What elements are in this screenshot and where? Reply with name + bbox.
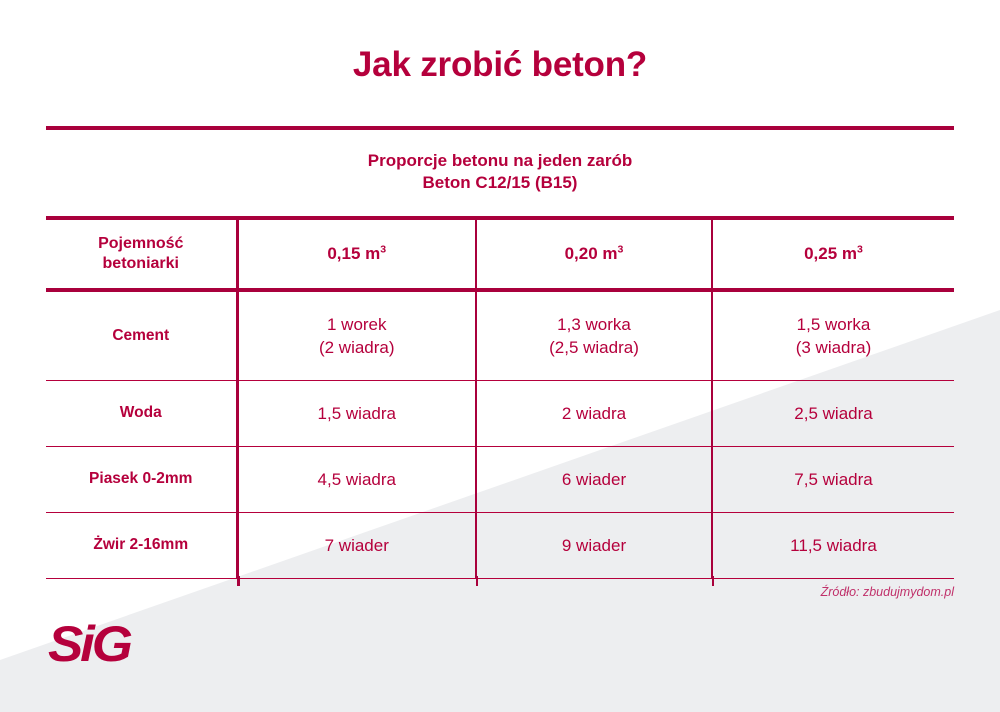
infographic-page: Jak zrobić beton? Proporcje betonu na je… (0, 0, 1000, 712)
cell-line-2: (2,5 wiadra) (477, 336, 711, 359)
row-label-zwir: Żwir 2-16mm (46, 512, 237, 578)
cell-cement-col3: 1,5 worka (3 wiadra) (712, 290, 954, 380)
table-header-row: Pojemność betoniarki 0,15 m3 0,20 m3 0,2… (46, 218, 954, 290)
cell-zwir-col3: 11,5 wiadra (712, 512, 954, 578)
table-row: Żwir 2-16mm 7 wiader 9 wiader 11,5 wiadr… (46, 512, 954, 578)
proportions-table-wrapper: Pojemność betoniarki 0,15 m3 0,20 m3 0,2… (46, 216, 954, 579)
row-label-piasek: Piasek 0-2mm (46, 446, 237, 512)
cell-woda-col1: 1,5 wiadra (237, 380, 476, 446)
header-column-2-value: 0,20 m (565, 244, 618, 263)
cell-line-2: (2 wiadra) (239, 336, 476, 359)
header-column-3: 0,25 m3 (712, 218, 954, 290)
header-column-3-value: 0,25 m (804, 244, 857, 263)
cell-zwir-col2: 9 wiader (476, 512, 712, 578)
sig-logo-wordmark: SiG (48, 618, 175, 670)
source-attribution: Źródło: zbudujmydom.pl (0, 585, 954, 599)
header-label-line-2: betoniarki (46, 254, 236, 274)
cell-line-1: 1,5 worka (713, 313, 954, 336)
cell-line-1: 1 worek (239, 313, 476, 336)
cell-piasek-col1: 4,5 wiadra (237, 446, 476, 512)
header-column-2: 0,20 m3 (476, 218, 712, 290)
table-row: Cement 1 worek (2 wiadra) 1,3 worka (2,5… (46, 290, 954, 380)
header-label-line-1: Pojemność (46, 234, 236, 254)
row-label-woda: Woda (46, 380, 237, 446)
subtitle-line-1: Proporcje betonu na jeden zarób (0, 150, 1000, 172)
table-row: Piasek 0-2mm 4,5 wiadra 6 wiader 7,5 wia… (46, 446, 954, 512)
proportions-table: Pojemność betoniarki 0,15 m3 0,20 m3 0,2… (46, 216, 954, 579)
table-row: Woda 1,5 wiadra 2 wiadra 2,5 wiadra (46, 380, 954, 446)
cell-cement-col2: 1,3 worka (2,5 wiadra) (476, 290, 712, 380)
subtitle-block: Proporcje betonu na jeden zarób Beton C1… (0, 150, 1000, 194)
cubic-exponent-icon: 3 (618, 243, 624, 255)
cubic-exponent-icon: 3 (857, 243, 863, 255)
top-divider-rule (46, 126, 954, 130)
page-title: Jak zrobić beton? (0, 45, 1000, 85)
row-label-cement: Cement (46, 290, 237, 380)
header-column-1: 0,15 m3 (237, 218, 476, 290)
cell-cement-col1: 1 worek (2 wiadra) (237, 290, 476, 380)
header-column-1-value: 0,15 m (327, 244, 380, 263)
cell-woda-col3: 2,5 wiadra (712, 380, 954, 446)
cell-piasek-col2: 6 wiader (476, 446, 712, 512)
cell-line-1: 1,3 worka (477, 313, 711, 336)
cell-piasek-col3: 7,5 wiadra (712, 446, 954, 512)
cell-woda-col2: 2 wiadra (476, 380, 712, 446)
subtitle-line-2: Beton C12/15 (B15) (0, 172, 1000, 194)
cubic-exponent-icon: 3 (380, 243, 386, 255)
sig-logo[interactable]: SiG (48, 618, 168, 670)
cell-zwir-col1: 7 wiader (237, 512, 476, 578)
header-label-capacity: Pojemność betoniarki (46, 218, 237, 290)
cell-line-2: (3 wiadra) (713, 336, 954, 359)
